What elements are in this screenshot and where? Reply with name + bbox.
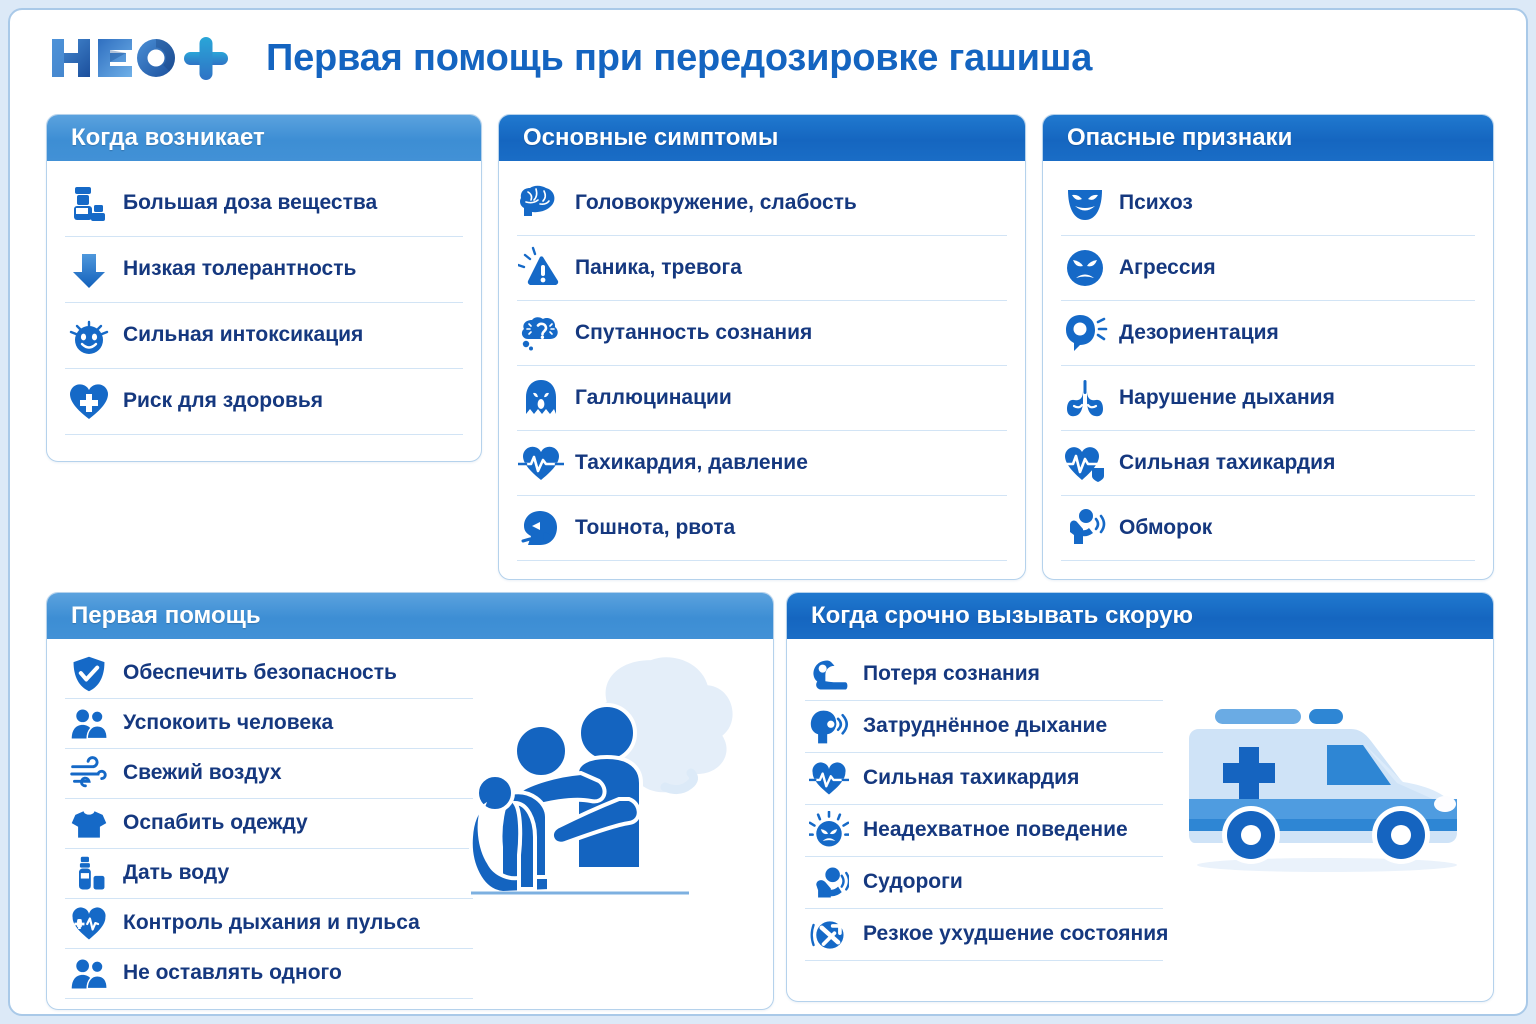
list-item[interactable]: Не оставлять одного xyxy=(65,949,473,999)
list-item[interactable]: Обморок xyxy=(1061,496,1475,561)
two-people-icon xyxy=(65,950,113,998)
infographic-page: Первая помощь при передозировке гашиша К… xyxy=(8,8,1528,1016)
list-item[interactable]: Головокружение, слабость xyxy=(517,171,1007,236)
card-header-danger: Опасные признаки xyxy=(1043,115,1493,161)
evil-mask-icon xyxy=(1061,179,1109,227)
pill-bottle-icon xyxy=(65,180,113,228)
card-title: Первая помощь xyxy=(71,602,261,630)
list-item-label: Дать воду xyxy=(123,862,229,884)
list-item[interactable]: Дать воду xyxy=(65,849,473,899)
seizure-icon xyxy=(805,859,853,907)
list-item[interactable]: Неадехватное поведение xyxy=(805,805,1163,857)
list-item[interactable]: Сильная тахикардия xyxy=(805,753,1163,805)
list-item-label: Головокружение, слабость xyxy=(575,192,857,214)
list-item[interactable]: Судороги xyxy=(805,857,1163,909)
card-body-emergency: Потеря сознания Затруднённое дыхание xyxy=(787,639,1493,969)
heart-pulse-icon xyxy=(1061,439,1109,487)
list-item-label: Нарушение дыхания xyxy=(1119,387,1335,409)
fainting-icon xyxy=(1061,504,1109,552)
list-item-label: Галлюцинации xyxy=(575,387,732,409)
list-item[interactable]: Успокоить человека xyxy=(65,699,473,749)
list-item[interactable]: Затруднённое дыхание xyxy=(805,701,1163,753)
card-call-ambulance: Когда срочно вызывать скорую Потеря созн… xyxy=(786,592,1494,1002)
list-item[interactable]: Тахикардия, давление xyxy=(517,431,1007,496)
disorient-head-icon xyxy=(1061,309,1109,357)
list-item-label: Паника, тревога xyxy=(575,257,742,279)
list-item[interactable]: Спутанность сознания xyxy=(517,301,1007,366)
list-item-label: Тошнота, рвота xyxy=(575,517,735,539)
list-item[interactable]: Риск для здоровья xyxy=(65,369,463,435)
card-header-symptoms: Основные симптомы xyxy=(499,115,1025,161)
cards-row-bottom: Первая помощь Обеспечить безопасность xyxy=(10,588,1528,1013)
decline-icon xyxy=(805,911,853,959)
list-item[interactable]: Большая доза вещества xyxy=(65,171,463,237)
ghost-icon xyxy=(517,374,565,422)
list-item[interactable]: Контроль дыхания и пульса xyxy=(65,899,473,949)
list-item-label: Тахикардия, давление xyxy=(575,452,808,474)
card-main-symptoms: Основные симптомы Головокружение, слабос… xyxy=(498,114,1026,580)
wind-icon xyxy=(65,750,113,798)
list-item[interactable]: Сильная интоксикация xyxy=(65,303,463,369)
ambulance-illustration xyxy=(1167,687,1487,887)
angry-alarm-icon xyxy=(805,807,853,855)
card-header-emergency: Когда срочно вызывать скорую xyxy=(787,593,1493,639)
list-item-label: Оспабить одежду xyxy=(123,812,308,834)
breathing-difficulty-icon xyxy=(805,703,853,751)
down-arrow-icon xyxy=(65,246,113,294)
list-item-label: Спутанность сознания xyxy=(575,322,812,344)
card-header-when: Когда возникает xyxy=(47,115,481,161)
list-item[interactable]: Паника, тревога xyxy=(517,236,1007,301)
card-first-aid: Первая помощь Обеспечить безопасность xyxy=(46,592,774,1010)
brain-head-icon xyxy=(517,179,565,227)
list-item-label: Дезориентация xyxy=(1119,322,1279,344)
list-item-label: Сильная тахикардия xyxy=(1119,452,1335,474)
list-item[interactable]: Агрессия xyxy=(1061,236,1475,301)
list-item-label: Низкая толерантность xyxy=(123,258,356,280)
heart-pulse-icon xyxy=(805,755,853,803)
question-cloud-icon xyxy=(517,309,565,357)
lungs-icon xyxy=(1061,374,1109,422)
list-item-label: Контроль дыхания и пульса xyxy=(123,912,420,934)
list-item[interactable]: Дезориентация xyxy=(1061,301,1475,366)
card-body-when: Большая доза вещества Низкая толерантнос… xyxy=(47,161,481,443)
list-item-label: Потеря сознания xyxy=(863,663,1040,685)
warning-icon xyxy=(517,244,565,292)
unconscious-icon xyxy=(805,651,853,699)
list-item[interactable]: Психоз xyxy=(1061,171,1475,236)
list-item-label: Обеспечить безопасность xyxy=(123,662,397,684)
list-item[interactable]: Галлюцинации xyxy=(517,366,1007,431)
card-body-danger: Психоз Агрессия xyxy=(1043,161,1493,569)
tshirt-icon xyxy=(65,800,113,848)
list-item-label: Резкое ухудшение состояния xyxy=(863,923,1168,945)
list-item-label: Психоз xyxy=(1119,192,1193,214)
list-item-label: Обморок xyxy=(1119,517,1212,539)
list-item[interactable]: Потеря сознания xyxy=(805,649,1163,701)
list-item-label: Свежий воздух xyxy=(123,762,282,784)
card-header-first-aid: Первая помощь xyxy=(47,593,773,639)
list-item-label: Неадехватное поведение xyxy=(863,819,1128,841)
angry-face-icon xyxy=(1061,244,1109,292)
list-item-label: Судороги xyxy=(863,871,963,893)
list-item[interactable]: Свежий воздух xyxy=(65,749,473,799)
list-item-label: Сильная тахикардия xyxy=(863,767,1079,789)
list-item-label: Большая доза вещества xyxy=(123,192,377,214)
list-item[interactable]: Оспабить одежду xyxy=(65,799,473,849)
card-title: Опасные признаки xyxy=(1067,124,1292,152)
card-danger-signs: Опасные признаки Психоз xyxy=(1042,114,1494,580)
people-supporting-illustration xyxy=(469,641,769,991)
vomiting-icon xyxy=(517,504,565,552)
card-when-it-occurs: Когда возникает Большая доза xyxy=(46,114,482,462)
list-item-label: Агрессия xyxy=(1119,257,1216,279)
dizzy-face-icon xyxy=(65,312,113,360)
card-body-first-aid: Обеспечить безопасность Успокоить челове… xyxy=(47,639,773,1007)
page-title: Первая помощь при передозировке гашиша xyxy=(266,39,1092,77)
water-bottle-icon xyxy=(65,850,113,898)
list-item[interactable]: Нарушение дыхания xyxy=(1061,366,1475,431)
cards-row-top: Когда возникает Большая доза xyxy=(10,110,1528,580)
shield-check-icon xyxy=(65,650,113,698)
card-title: Когда возникает xyxy=(71,124,265,152)
card-title: Основные симптомы xyxy=(523,124,778,152)
heart-cross-icon xyxy=(65,378,113,426)
list-item[interactable]: Сильная тахикардия xyxy=(1061,431,1475,496)
two-people-icon xyxy=(65,700,113,748)
list-item[interactable]: Резкое ухудшение состояния xyxy=(805,909,1163,961)
page-header: Первая помощь при передозировке гашиша xyxy=(10,10,1526,98)
list-item-label: Риск для здоровья xyxy=(123,390,323,412)
heart-monitor-icon xyxy=(65,900,113,948)
list-item-label: Затруднённое дыхание xyxy=(863,715,1107,737)
list-item-label: Сильная интоксикация xyxy=(123,324,363,346)
card-title: Когда срочно вызывать скорую xyxy=(811,602,1193,630)
heart-pulse-icon xyxy=(517,439,565,487)
card-body-symptoms: Головокружение, слабость Паника, тревога xyxy=(499,161,1025,569)
list-item-label: Успокоить человека xyxy=(123,712,333,734)
list-item-label: Не оставлять одного xyxy=(123,962,342,984)
neo-plus-logo xyxy=(48,31,248,85)
list-item[interactable]: Тошнота, рвота xyxy=(517,496,1007,561)
list-item[interactable]: Низкая толерантность xyxy=(65,237,463,303)
list-item[interactable]: Обеспечить безопасность xyxy=(65,649,473,699)
